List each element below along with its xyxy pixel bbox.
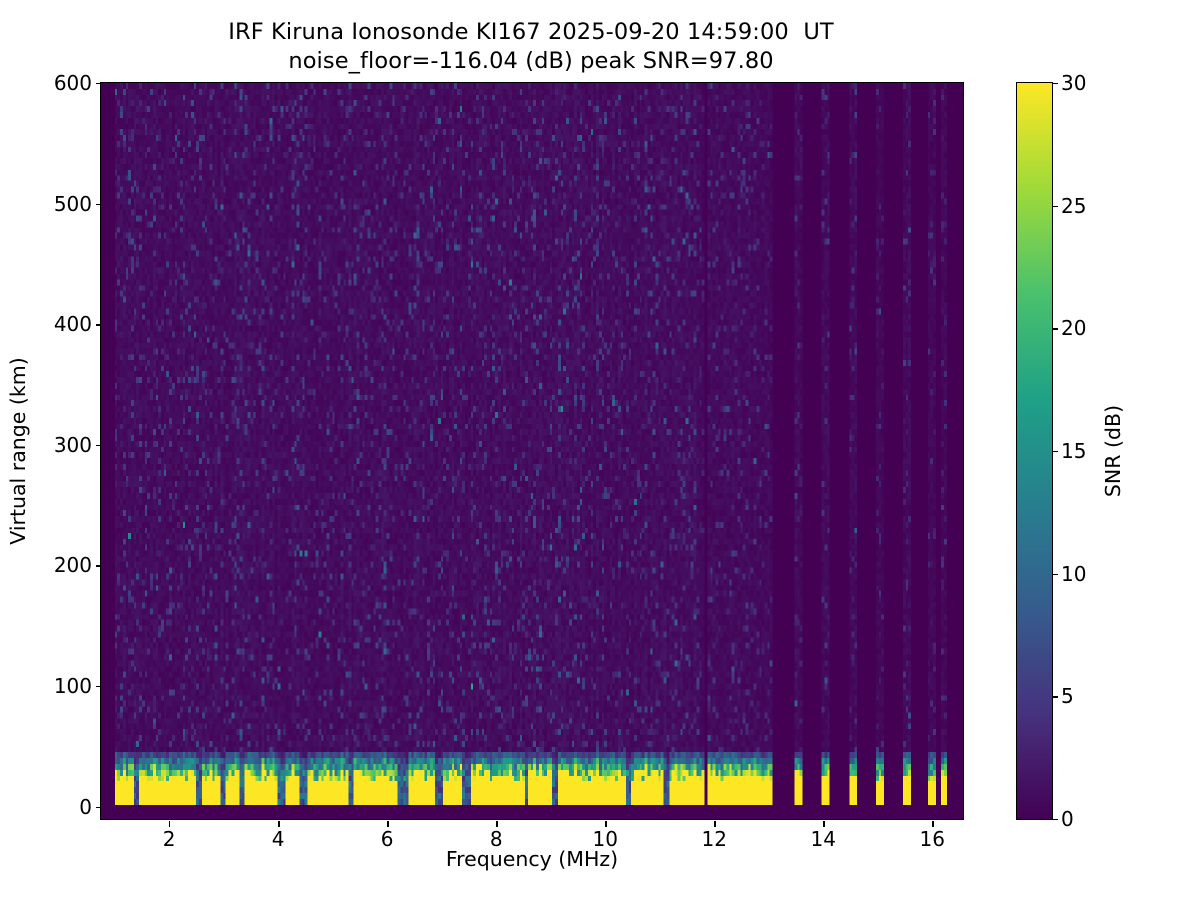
- colorbar-label: SNR (dB): [1101, 405, 1125, 497]
- colorbar-gradient: [1017, 83, 1052, 819]
- colorbar-tick: [1052, 819, 1058, 820]
- colorbar-tick-label: 15: [1061, 439, 1086, 463]
- colorbar-tick-label: 25: [1061, 194, 1086, 218]
- colorbar-tick: [1052, 328, 1058, 329]
- x-tick: [823, 821, 824, 827]
- ionogram-axes: 0100200300400500600246810121416: [100, 82, 964, 820]
- x-tick-label: 6: [381, 827, 394, 851]
- y-tick: [96, 686, 102, 687]
- x-tick: [387, 821, 388, 827]
- x-tick: [714, 821, 715, 827]
- y-tick: [96, 565, 102, 566]
- y-tick-label: 0: [79, 795, 92, 819]
- ionogram-figure: IRF Kiruna Ionosonde KI167 2025-09-20 14…: [0, 0, 1200, 900]
- y-tick-label: 300: [54, 433, 92, 457]
- figure-title: IRF Kiruna Ionosonde KI167 2025-09-20 14…: [0, 18, 1062, 77]
- x-tick-label: 14: [811, 827, 836, 851]
- x-tick: [496, 821, 497, 827]
- y-tick-label: 200: [54, 553, 92, 577]
- colorbar-tick-label: 20: [1061, 316, 1086, 340]
- colorbar-tick: [1052, 206, 1058, 207]
- y-tick-label: 600: [54, 71, 92, 95]
- colorbar-tick-label: 0: [1061, 807, 1074, 831]
- colorbar-tick-label: 30: [1061, 71, 1086, 95]
- y-tick-label: 500: [54, 192, 92, 216]
- x-tick-label: 4: [272, 827, 285, 851]
- y-tick-label: 400: [54, 312, 92, 336]
- x-tick: [932, 821, 933, 827]
- colorbar-tick-label: 5: [1061, 684, 1074, 708]
- colorbar-tick: [1052, 451, 1058, 452]
- y-tick: [96, 445, 102, 446]
- y-tick: [96, 807, 102, 808]
- title-line-2: noise_floor=-116.04 (dB) peak SNR=97.80: [0, 47, 1062, 76]
- x-tick: [278, 821, 279, 827]
- colorbar-tick: [1052, 83, 1058, 84]
- ionogram-heatmap: [101, 83, 963, 819]
- colorbar-tick: [1052, 574, 1058, 575]
- x-tick: [169, 821, 170, 827]
- colorbar-tick-label: 10: [1061, 562, 1086, 586]
- x-tick-label: 16: [920, 827, 945, 851]
- colorbar: 051015202530: [1016, 82, 1053, 820]
- x-tick-label: 2: [163, 827, 176, 851]
- y-axis-label: Virtual range (km): [6, 357, 30, 544]
- y-tick: [96, 324, 102, 325]
- y-tick: [96, 204, 102, 205]
- title-line-1: IRF Kiruna Ionosonde KI167 2025-09-20 14…: [0, 18, 1062, 47]
- y-tick-label: 100: [54, 674, 92, 698]
- x-tick-label: 12: [702, 827, 727, 851]
- x-tick: [605, 821, 606, 827]
- colorbar-tick: [1052, 696, 1058, 697]
- y-tick: [96, 83, 102, 84]
- x-axis-label: Frequency (MHz): [446, 847, 618, 871]
